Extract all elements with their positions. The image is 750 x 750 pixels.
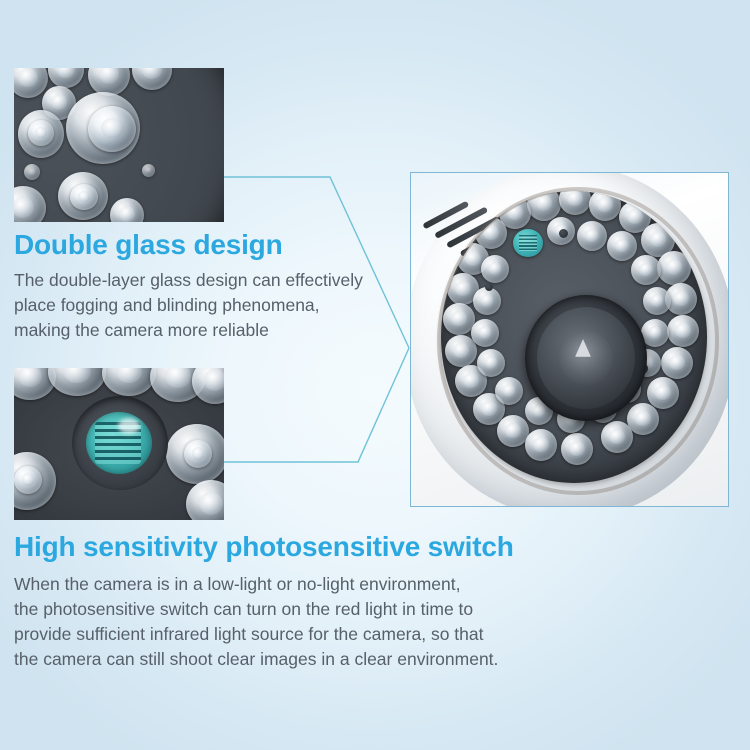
- body-line: The double-layer glass design can effect…: [14, 268, 406, 293]
- feature-body-photosensitive-switch: When the camera is in a low-light or no-…: [14, 572, 574, 672]
- feature-heading-double-glass: Double glass design: [14, 229, 282, 261]
- feature-body-double-glass: The double-layer glass design can effect…: [14, 268, 406, 343]
- body-line: When the camera is in a low-light or no-…: [14, 572, 574, 597]
- feature-heading-photosensitive-switch: High sensitivity photosensitive switch: [14, 531, 514, 563]
- photosensor-icon: [86, 412, 152, 474]
- body-line: provide sufficient infrared light source…: [14, 622, 574, 647]
- ir-led-icon: [14, 466, 42, 494]
- ir-led-icon: [184, 440, 212, 468]
- connector-line-bottom: [224, 348, 409, 462]
- body-line: the photosensitive switch can turn on th…: [14, 597, 574, 622]
- ir-led-icon: [70, 184, 98, 210]
- photosensor-housing: [72, 396, 168, 490]
- ir-led-icon: [28, 120, 54, 146]
- ir-led-icon: [88, 106, 136, 152]
- body-line: place fogging and blinding phenomena,: [14, 293, 406, 318]
- ir-led-icon: [24, 164, 40, 180]
- ir-led-icon: [142, 164, 155, 177]
- body-line: making the camera more reliable: [14, 318, 406, 343]
- dome-rim: [437, 187, 719, 495]
- thumbnail-double-glass: [14, 68, 224, 222]
- infographic-canvas: Double glass design The double-layer gla…: [0, 0, 750, 750]
- body-line: the camera can still shoot clear images …: [14, 647, 574, 672]
- main-product-photo: [410, 172, 729, 507]
- photosensor-highlight: [118, 418, 140, 434]
- thumbnail-photosensitive-switch: [14, 368, 224, 520]
